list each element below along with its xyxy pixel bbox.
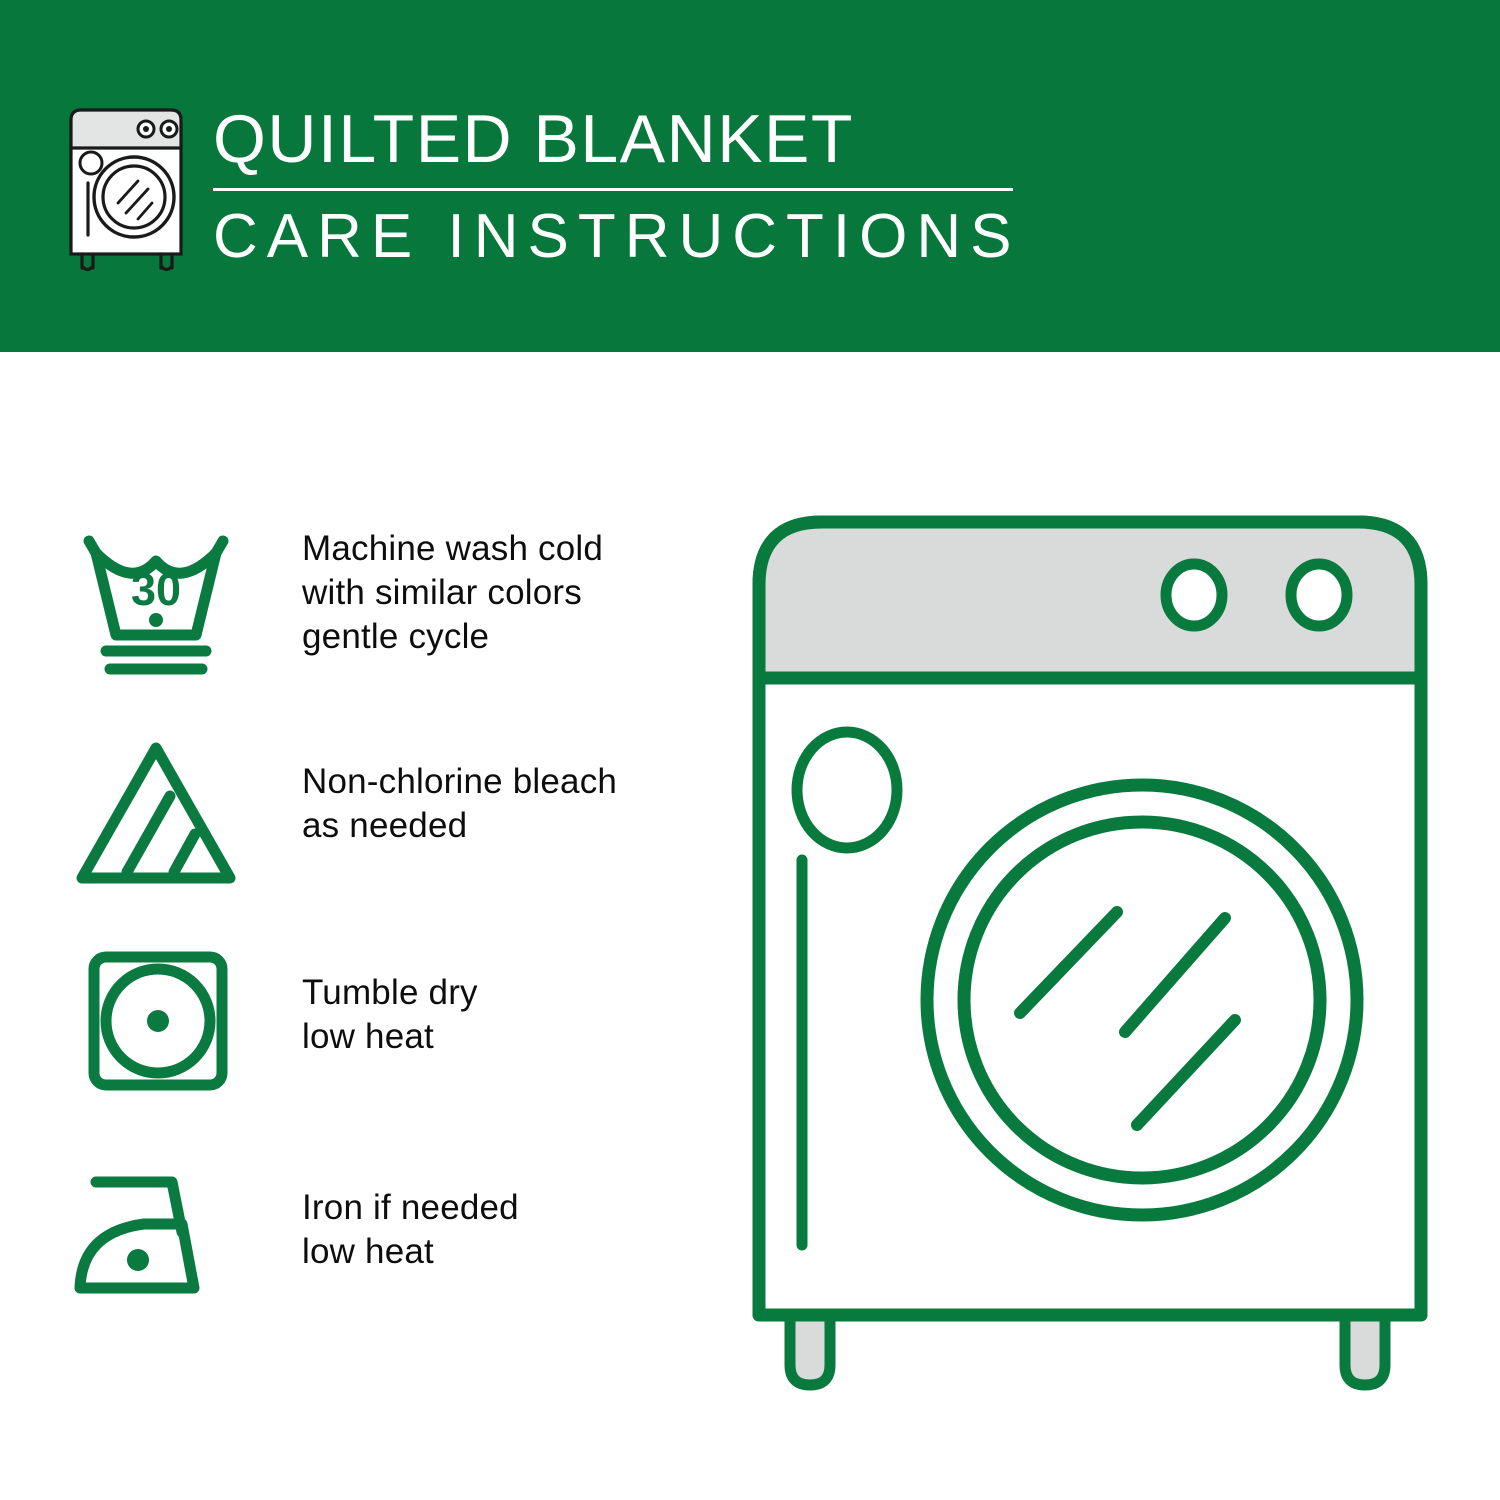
front-load-washing-machine-illustration xyxy=(745,500,1455,1420)
care-text-iron: Iron if needed low heat xyxy=(302,1186,519,1274)
dryer-heat-dot xyxy=(147,1010,169,1032)
wash-temperature-value: 30 xyxy=(131,564,181,615)
care-text-bleach: Non-chlorine bleach as needed xyxy=(302,760,617,848)
wash-dot xyxy=(149,613,163,627)
detergent-dial xyxy=(797,732,897,848)
care-row: Tumble dry low heat xyxy=(0,935,730,1150)
tumble-dry-low-icon xyxy=(78,945,248,1100)
page-subtitle: CARE INSTRUCTIONS xyxy=(213,201,1023,273)
care-line: Machine wash cold xyxy=(302,527,603,571)
care-line: with similar colors xyxy=(302,571,603,615)
care-instructions-poster: QUILTED BLANKET CARE INSTRUCTIONS 30 xyxy=(0,0,1500,1500)
knob-left xyxy=(1166,564,1222,626)
title-divider xyxy=(213,188,1013,191)
care-line: Tumble dry xyxy=(302,971,478,1015)
care-row: Non-chlorine bleach as needed xyxy=(0,720,730,935)
care-line: Non-chlorine bleach xyxy=(302,760,617,804)
care-instruction-list: 30 Machine wash cold with similar colors… xyxy=(0,505,730,1365)
washing-machine-icon xyxy=(62,103,194,273)
care-text-wash: Machine wash cold with similar colors ge… xyxy=(302,527,603,659)
care-row: Iron if needed low heat xyxy=(0,1150,730,1365)
care-line: low heat xyxy=(302,1230,519,1274)
care-line: as needed xyxy=(302,804,617,848)
care-line: low heat xyxy=(302,1015,478,1059)
care-line: Iron if needed xyxy=(302,1186,519,1230)
header-banner: QUILTED BLANKET CARE INSTRUCTIONS xyxy=(0,0,1500,352)
wash-tub-30-icon: 30 xyxy=(72,523,242,678)
care-text-dry: Tumble dry low heat xyxy=(302,971,478,1059)
page-title: QUILTED BLANKET xyxy=(213,100,1023,178)
iron-heat-dot xyxy=(127,1249,149,1271)
care-row: 30 Machine wash cold with similar colors… xyxy=(0,505,730,720)
iron-low-heat-icon xyxy=(66,1162,236,1317)
knob-right xyxy=(1291,564,1347,626)
non-chlorine-bleach-triangle-icon xyxy=(70,734,240,889)
header-title-block: QUILTED BLANKET CARE INSTRUCTIONS xyxy=(213,100,1023,273)
care-line: gentle cycle xyxy=(302,615,603,659)
